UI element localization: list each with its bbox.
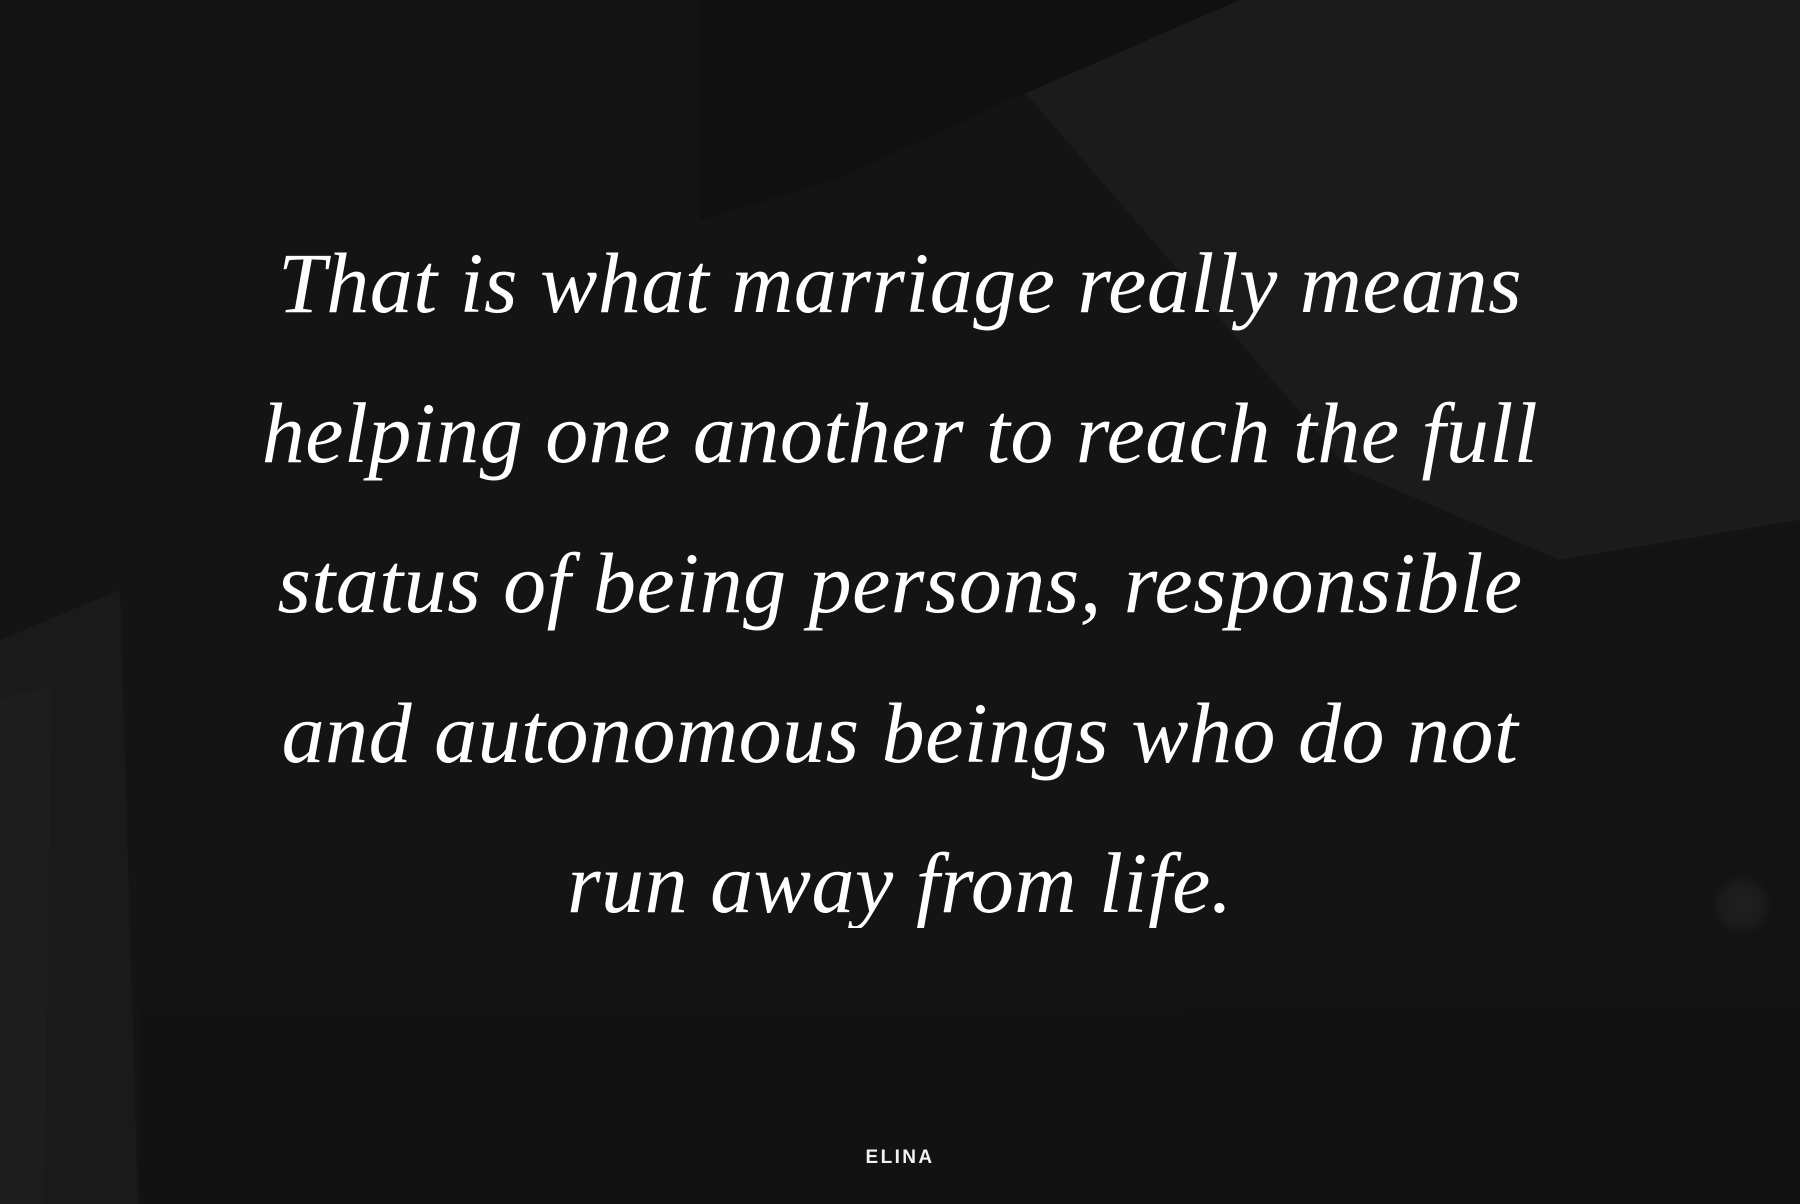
quote-line-2: helping one another to reach the full — [200, 358, 1600, 508]
quote-text-block: That is what marriage really means helpi… — [200, 208, 1600, 928]
quote-line-3: status of being persons, responsible — [200, 508, 1600, 658]
quote-line-4: and autonomous beings who do not — [200, 658, 1600, 808]
quote-card-canvas: That is what marriage really means helpi… — [0, 0, 1800, 1204]
quote-line-1: That is what marriage really means — [200, 208, 1600, 358]
author-attribution: ELINA — [0, 1148, 1800, 1167]
quote-line-5: run away from life. — [200, 808, 1600, 928]
quote-content: That is what marriage really means helpi… — [0, 0, 1800, 1204]
